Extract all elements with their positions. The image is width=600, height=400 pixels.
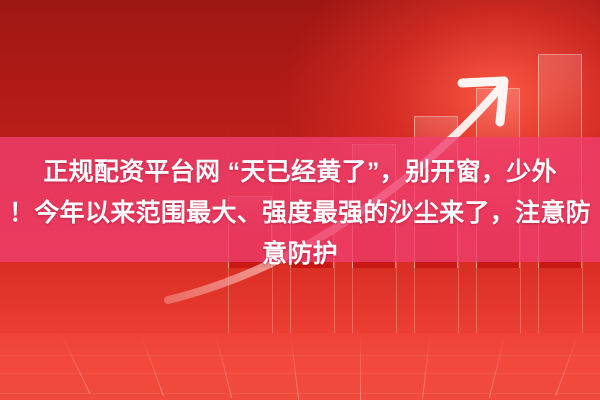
banner-headline: 正规配资平台网 “天已经黄了”，别开窗，少外 ！今年以来范围最大、强度最强的沙尘…: [0, 152, 600, 275]
headline-line-3: 意防护: [0, 234, 600, 275]
headline-line-1: 正规配资平台网 “天已经黄了”，别开窗，少外: [43, 158, 557, 186]
headline-line-2: ！今年以来范围最大、强度最强的沙尘来了，注意防: [0, 193, 600, 234]
banner-image: 正规配资平台网 “天已经黄了”，别开窗，少外 ！今年以来范围最大、强度最强的沙尘…: [0, 0, 600, 400]
perspective-floor: [0, 333, 600, 400]
